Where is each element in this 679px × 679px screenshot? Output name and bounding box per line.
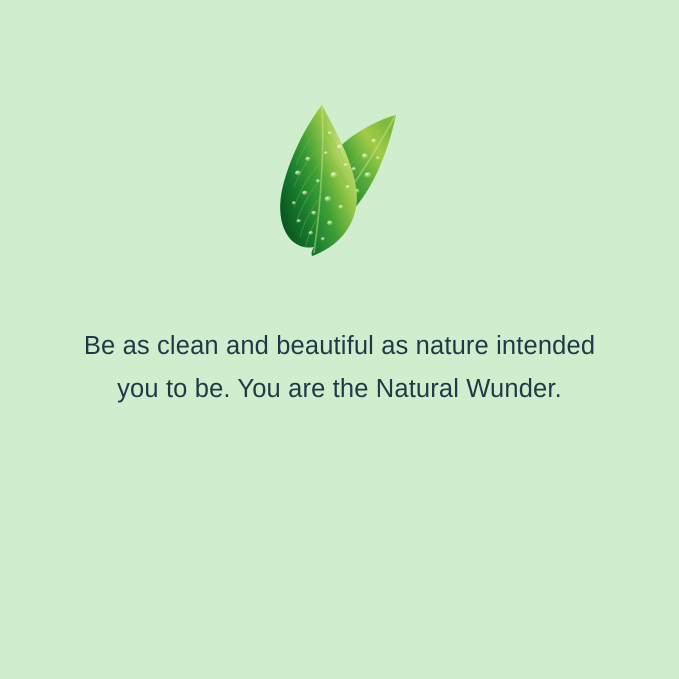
logo-container <box>0 100 679 265</box>
quote-line-1: Be as clean and beautiful as nature inte… <box>0 325 679 368</box>
quote-text: Be as clean and beautiful as nature inte… <box>0 325 679 411</box>
two-leaves-icon <box>278 103 402 263</box>
quote-line-2: you to be. You are the Natural Wunder. <box>0 368 679 411</box>
poster-canvas: Be as clean and beautiful as nature inte… <box>0 0 679 679</box>
